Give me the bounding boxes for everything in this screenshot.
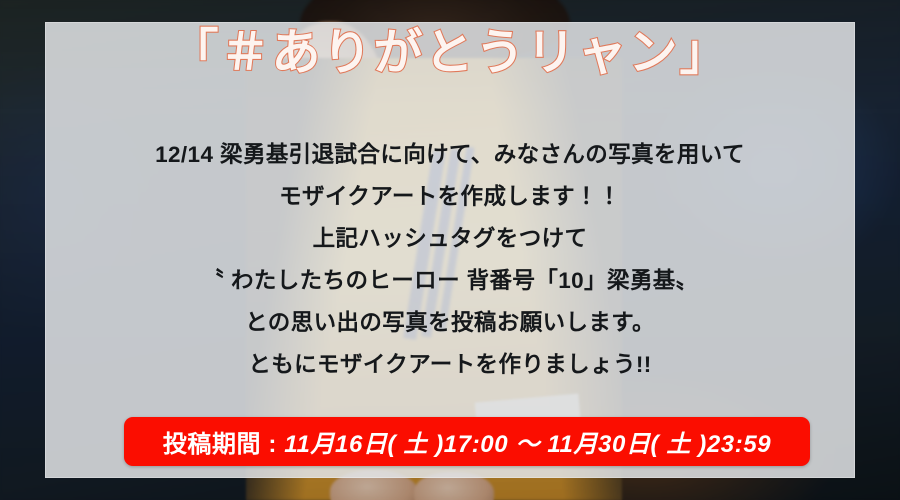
submission-period-text: 投稿期間 : 11月16日( 土 )17:00 〜 11月30日( 土 )23:… (163, 424, 772, 459)
submission-period-label: 投稿期間 : (163, 431, 285, 458)
campaign-poster: 「＃ありがとうリャン」 12/14 梁勇基引退試合に向けて、みなさんの写真を用い… (0, 0, 900, 500)
submission-period-value: 11月16日( 土 )17:00 〜 11月30日( 土 )23:59 (284, 431, 771, 458)
copy-line-2: モザイクアートを作成します！！ (0, 176, 900, 218)
copy-line-6: ともにモザイクアートを作りましょう!! (0, 344, 900, 386)
submission-period-banner: 投稿期間 : 11月16日( 土 )17:00 〜 11月30日( 土 )23:… (124, 417, 810, 466)
copy-line-4: 〝 わたしたちのヒーロー 背番号「10」梁勇基〟 (0, 260, 900, 302)
copy-line-3: 上記ハッシュタグをつけて (0, 218, 900, 260)
copy-line-5: との思い出の写真を投稿お願いします。 (0, 302, 900, 344)
copy-line-1: 12/14 梁勇基引退試合に向けて、みなさんの写真を用いて (0, 134, 900, 176)
page-title: 「＃ありがとうリャン」 (0, 28, 900, 79)
body-copy: 12/14 梁勇基引退試合に向けて、みなさんの写真を用いて モザイクアートを作成… (0, 134, 900, 386)
